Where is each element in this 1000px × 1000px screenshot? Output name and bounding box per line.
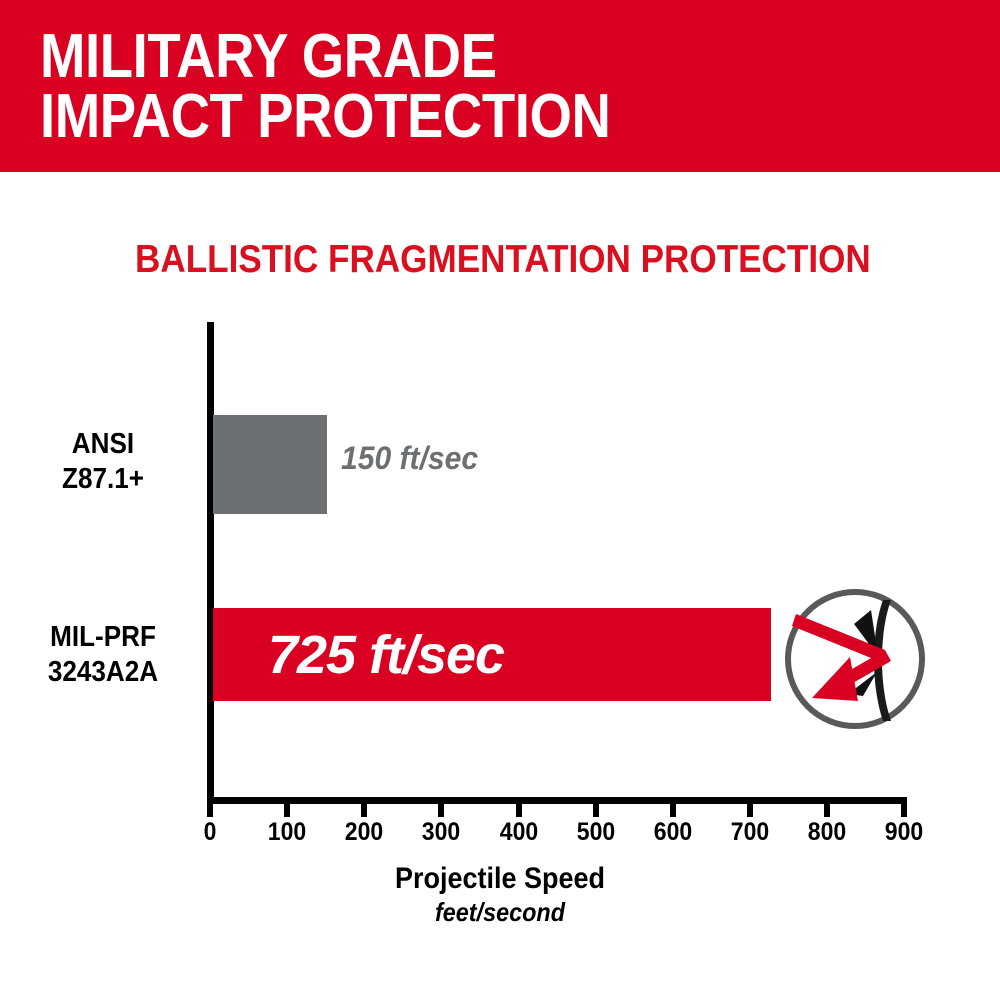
x-axis-tick-label: 600	[641, 818, 705, 847]
x-axis-tick-label: 900	[872, 818, 936, 847]
category-label-mil-line1: MIL-PRF	[50, 621, 156, 653]
x-axis-tick	[901, 804, 907, 817]
x-axis-title-main: Projectile Speed	[50, 862, 950, 896]
x-axis-title-sub: feet/second	[50, 896, 950, 928]
x-axis-tick	[670, 804, 676, 817]
x-axis-tick-label: 400	[487, 818, 551, 847]
x-axis-tick	[516, 804, 522, 817]
x-axis-title: Projectile Speed feet/second	[0, 862, 1000, 928]
x-axis-tick-label: 500	[564, 818, 628, 847]
x-axis-tick	[747, 804, 753, 817]
x-axis-tick	[284, 804, 290, 817]
category-label-ansi: ANSI Z87.1+	[18, 427, 189, 497]
y-axis-line	[207, 322, 214, 804]
x-axis-tick-label: 200	[332, 818, 396, 847]
x-axis-tick-label: 800	[795, 818, 859, 847]
chart-plot-area: 0 100 200 300 400 500 600 700 800 900 15…	[0, 0, 1000, 1000]
x-axis-tick	[207, 804, 213, 817]
impact-protection-icon	[784, 588, 926, 730]
x-axis-tick-label: 100	[255, 818, 319, 847]
x-axis-tick	[361, 804, 367, 817]
category-label-ansi-line2: Z87.1+	[62, 463, 144, 495]
x-axis-line	[207, 797, 907, 804]
category-label-mil-line2: 3243A2A	[48, 656, 158, 688]
x-axis-tick-label: 700	[718, 818, 782, 847]
x-axis-tick	[824, 804, 830, 817]
x-axis-tick	[593, 804, 599, 817]
bar-value-label-ansi: 150 ft/sec	[341, 440, 478, 477]
infographic-page: MILITARY GRADE IMPACT PROTECTION BALLIST…	[0, 0, 1000, 1000]
category-label-mil-prf: MIL-PRF 3243A2A	[18, 620, 189, 690]
bar-ansi-z871	[213, 415, 327, 514]
x-axis-tick	[438, 804, 444, 817]
category-label-ansi-line1: ANSI	[72, 428, 134, 460]
x-axis-tick-label: 0	[178, 818, 242, 847]
x-axis-tick-label: 300	[409, 818, 473, 847]
